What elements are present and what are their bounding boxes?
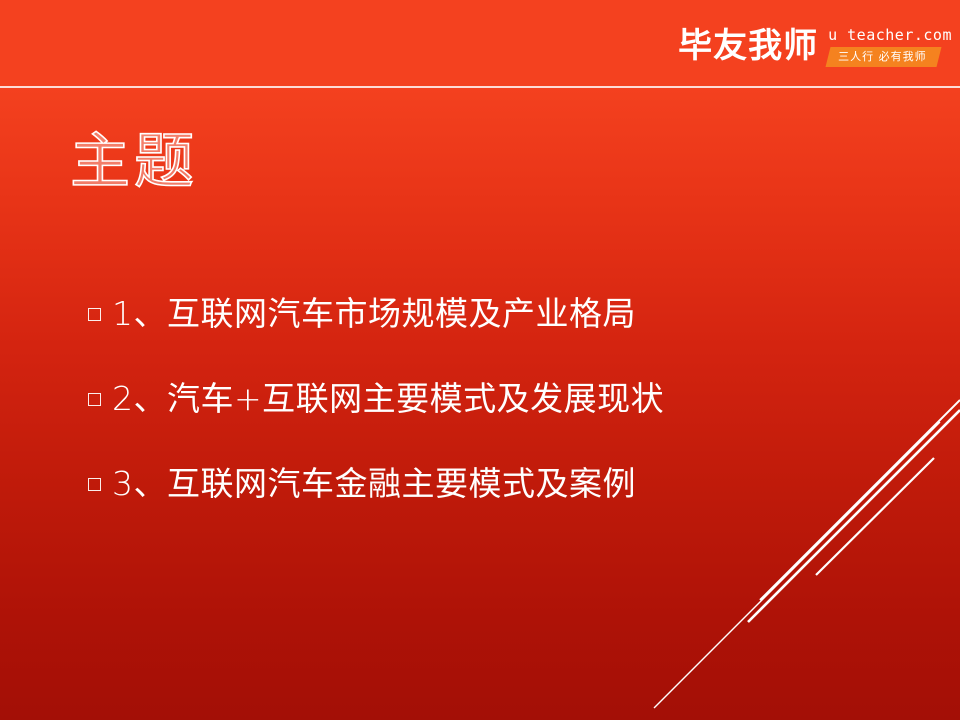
- brand-domain-text: u teacher.com: [828, 27, 952, 44]
- list-item: 3、互联网汽车金融主要模式及案例: [88, 462, 788, 506]
- list-item-label: 2、汽车+互联网主要模式及发展现状: [112, 377, 664, 421]
- header-divider-line: [0, 86, 960, 88]
- list-item-label: 3、互联网汽车金融主要模式及案例: [112, 462, 636, 506]
- list-item: 2、汽车+互联网主要模式及发展现状: [88, 377, 788, 421]
- list-item: 1、互联网汽车市场规模及产业格局: [88, 292, 788, 336]
- list-item-label: 1、互联网汽车市场规模及产业格局: [112, 292, 636, 336]
- brand-name: 毕友我师: [678, 24, 818, 68]
- brand-logo-mark: u teacher.com 三人行 必有我师: [828, 25, 952, 67]
- square-bullet-icon: [88, 393, 101, 406]
- brand-block: 毕友我师 u teacher.com 三人行 必有我师: [678, 24, 952, 68]
- topic-list: 1、互联网汽车市场规模及产业格局 2、汽车+互联网主要模式及发展现状 3、互联网…: [88, 292, 788, 547]
- decor-line-3: [760, 400, 960, 600]
- brand-tagline-text: 三人行 必有我师: [838, 51, 927, 62]
- page-title: 主题: [70, 126, 198, 198]
- brand-tagline-badge: 三人行 必有我师: [826, 47, 941, 67]
- square-bullet-icon: [88, 308, 101, 321]
- slide-header-band: 毕友我师 u teacher.com 三人行 必有我师: [0, 0, 960, 87]
- presentation-slide: 毕友我师 u teacher.com 三人行 必有我师 主题 1、互联网汽车市场…: [0, 0, 960, 720]
- decor-line-4: [816, 458, 934, 575]
- square-bullet-icon: [88, 478, 101, 491]
